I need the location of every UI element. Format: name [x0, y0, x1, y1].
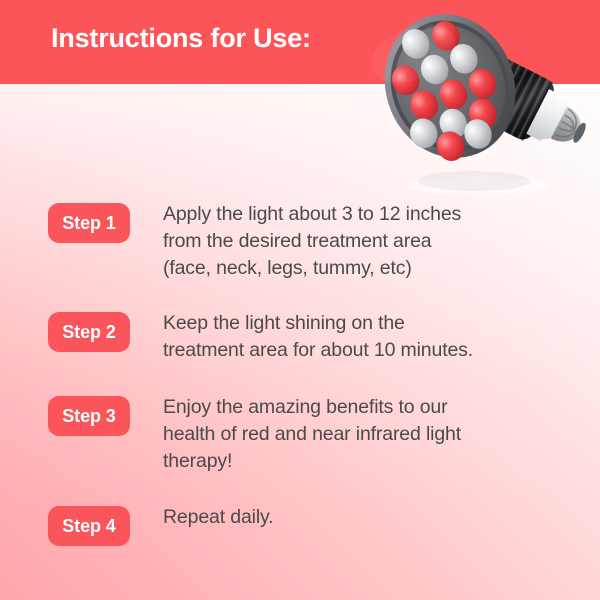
instructions-card: Instructions for Use: [0, 0, 600, 600]
step-text-1: Apply the light about 3 to 12 inches fro… [163, 201, 461, 282]
step-text-2: Keep the light shining on the treatment … [163, 310, 473, 364]
step-badge-1: Step 1 [48, 203, 130, 243]
step-row-1: Step 1 Apply the light about 3 to 12 inc… [48, 203, 461, 282]
step-text-4: Repeat daily. [163, 504, 273, 531]
step-text-3: Enjoy the amazing benefits to our health… [163, 394, 461, 475]
step-row-3: Step 3 Enjoy the amazing benefits to our… [48, 396, 461, 475]
step-row-2: Step 2 Keep the light shining on the tre… [48, 312, 473, 364]
step-badge-3: Step 3 [48, 396, 130, 436]
step-badge-2: Step 2 [48, 312, 130, 352]
step-row-4: Step 4 Repeat daily. [48, 506, 273, 546]
step-badge-4: Step 4 [48, 506, 130, 546]
steps-list: Step 1 Apply the light about 3 to 12 inc… [0, 0, 600, 600]
